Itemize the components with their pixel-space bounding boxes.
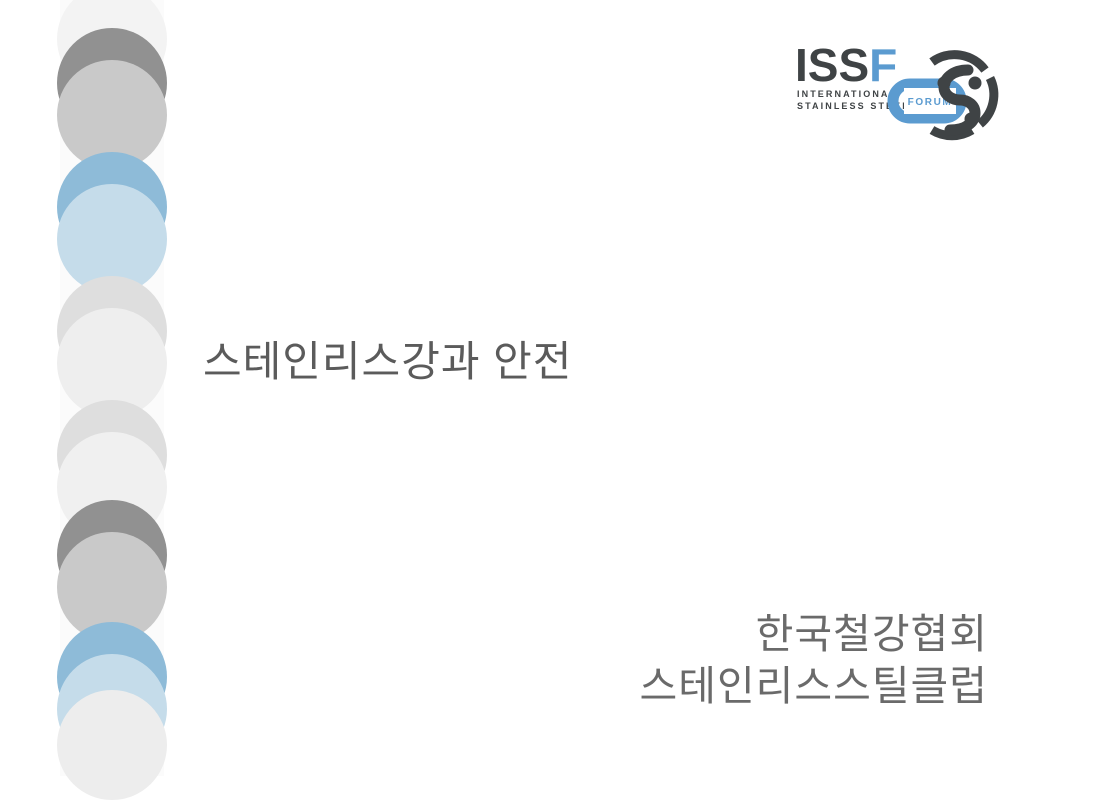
decorative-circle-column — [60, 0, 164, 776]
page-title: 스테인리스강과 안전 — [203, 336, 572, 389]
decorative-circle — [57, 690, 167, 800]
issf-emblem-icon: FORUM — [880, 30, 1002, 146]
organization-division: 스테인리스스틸클럽 — [468, 660, 988, 712]
issf-wordmark-dark: ISS — [795, 39, 869, 91]
organization-name: 한국철강협회 — [468, 608, 988, 660]
title-slide: ISSF INTERNATIONAL STAINLESS STEEL FORUM — [0, 0, 1096, 803]
issf-logo: ISSF INTERNATIONAL STAINLESS STEEL FORUM — [790, 30, 1005, 140]
organization-block: 한국철강협회 스테인리스스틸클럽 — [468, 608, 988, 712]
